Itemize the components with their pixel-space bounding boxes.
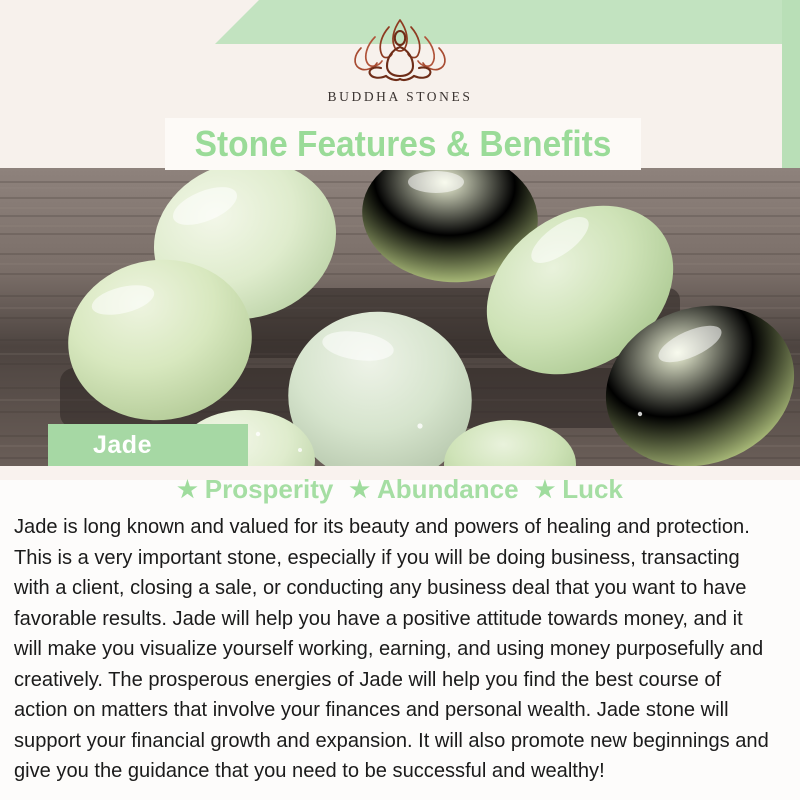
benefit-item-abundance: ★ Abundance — [349, 474, 518, 505]
stone-description: Jade is long known and valued for its be… — [14, 512, 774, 787]
page-title: Stone Features & Benefits — [195, 123, 612, 165]
benefit-label: Abundance — [377, 474, 519, 505]
poster: BUDDHA STONES Stone Features & Benefits — [0, 0, 800, 800]
stone-name-badge: Jade — [48, 424, 248, 466]
star-icon: ★ — [535, 478, 556, 501]
star-icon: ★ — [349, 478, 370, 501]
content-area: ★ Prosperity ★ Abundance ★ Luck Jade is … — [0, 466, 800, 800]
benefit-label: Luck — [562, 474, 623, 505]
brand-name: BUDDHA STONES — [328, 89, 473, 105]
benefit-item-prosperity: ★ Prosperity — [177, 474, 333, 505]
benefit-label: Prosperity — [205, 474, 334, 505]
benefits-row: ★ Prosperity ★ Abundance ★ Luck — [0, 474, 800, 505]
lotus-meditation-icon — [341, 14, 459, 86]
brand-logo: BUDDHA STONES — [0, 14, 800, 105]
star-icon: ★ — [177, 478, 198, 501]
title-banner: Stone Features & Benefits — [165, 118, 641, 170]
benefit-item-luck: ★ Luck — [535, 474, 623, 505]
stone-photo — [0, 168, 800, 466]
stone-name: Jade — [93, 431, 152, 460]
